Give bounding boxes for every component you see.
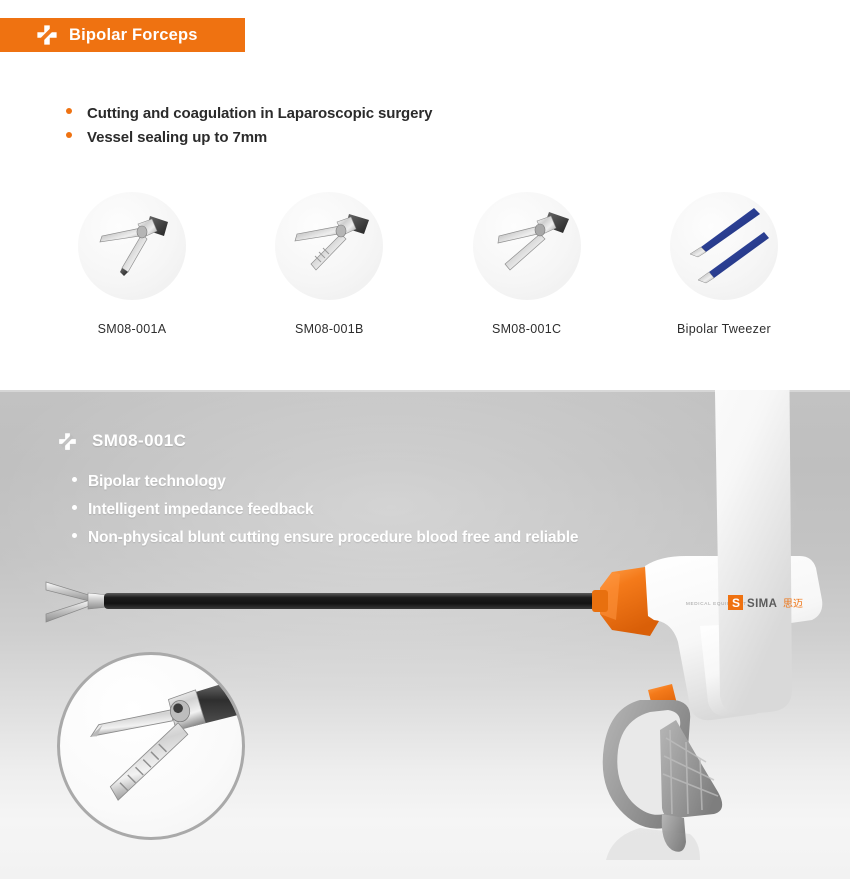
brand-logo-mark: S <box>732 596 740 610</box>
intro-panel: Bipolar Forceps Cutting and coagulation … <box>0 0 850 390</box>
forceps-jaw-icon <box>473 192 581 300</box>
feature-item: Vessel sealing up to 7mm <box>66 129 432 146</box>
product-thumbnail-label: SM08-001A <box>98 322 167 336</box>
product-thumbnail-image <box>670 192 778 300</box>
brand-name: SIMA <box>747 598 777 610</box>
product-thumbnail-item[interactable]: SM08-001C <box>463 192 591 336</box>
feature-text: Cutting and coagulation in Laparoscopic … <box>87 105 432 122</box>
product-thumbnail-item[interactable]: SM08-001A <box>68 192 196 336</box>
bullet-dot-icon <box>66 108 72 114</box>
product-thumbnail-label: Bipolar Tweezer <box>677 322 771 336</box>
medical-cross-icon <box>36 24 58 46</box>
jaw-closeup-image <box>60 655 242 837</box>
jaw-closeup-inset <box>57 652 245 840</box>
feature-item: Cutting and coagulation in Laparoscopic … <box>66 105 432 122</box>
section-header-bar: Bipolar Forceps <box>0 18 245 52</box>
product-thumbnail-label: SM08-001C <box>492 322 561 336</box>
product-thumbnail-item[interactable]: Bipolar Tweezer <box>660 192 788 336</box>
feature-text: Vessel sealing up to 7mm <box>87 129 267 146</box>
brand-logo: MEDICAL EQUIPMENT S SIMA 思迈 <box>686 592 814 612</box>
product-thumbnail-gallery: SM08-001A SM08-001B <box>68 192 788 336</box>
product-thumbnail-image <box>78 192 186 300</box>
brand-name-cn: 思迈 <box>783 598 803 610</box>
product-brochure-page: Bipolar Forceps Cutting and coagulation … <box>0 0 850 879</box>
blue-tweezer-icon <box>670 192 778 300</box>
product-thumbnail-label: SM08-001B <box>295 322 364 336</box>
product-thumbnail-image <box>473 192 581 300</box>
bullet-dot-icon <box>66 132 72 138</box>
product-thumbnail-image <box>275 192 383 300</box>
forceps-jaw-icon <box>275 192 383 300</box>
product-thumbnail-item[interactable]: SM08-001B <box>265 192 393 336</box>
section-title: Bipolar Forceps <box>69 26 198 45</box>
forceps-jaw-icon <box>78 192 186 300</box>
feature-list: Cutting and coagulation in Laparoscopic … <box>66 105 432 153</box>
